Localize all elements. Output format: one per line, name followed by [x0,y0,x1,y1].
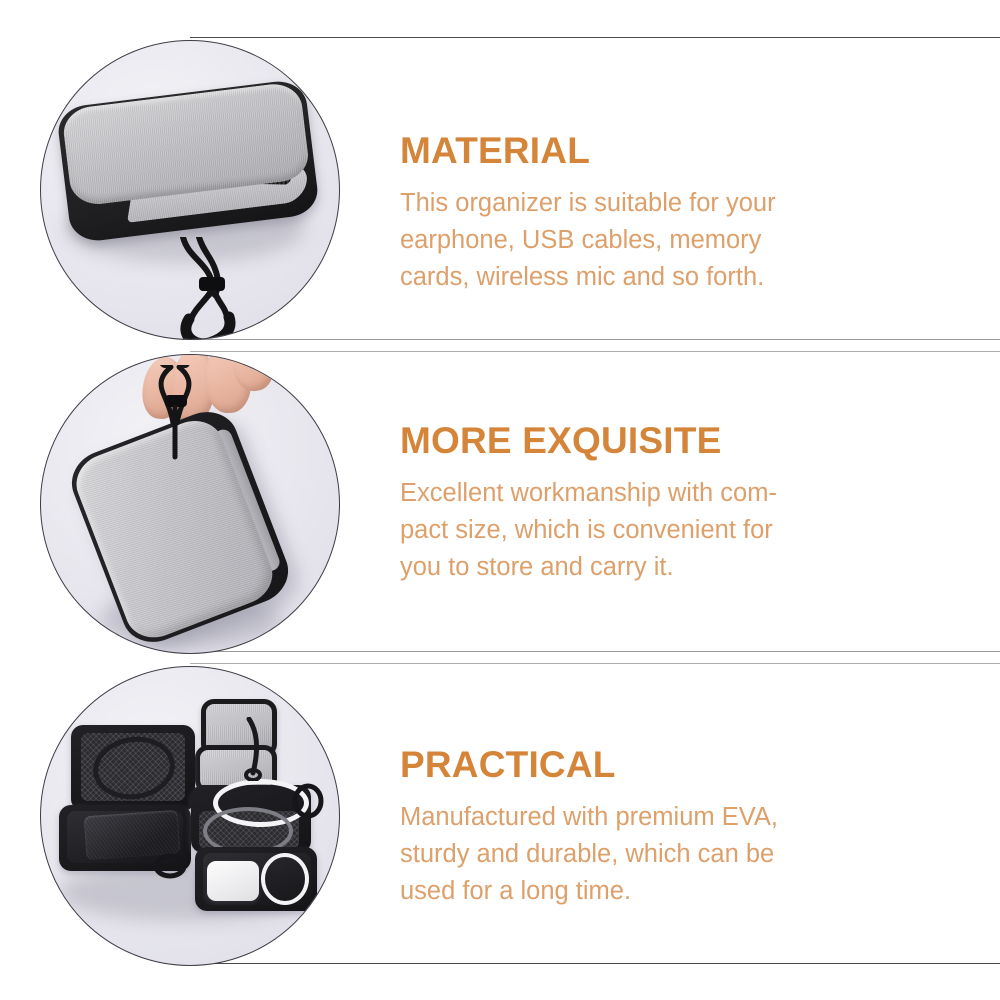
body-line: you to store and carry it. [400,553,674,581]
body-line: cards, wireless mic and so forth. [400,263,764,291]
section-body: Excellent workmanship with com- pact siz… [400,475,960,587]
product-photo-material [40,40,340,340]
product-photo-more-exquisite [40,354,340,654]
section-body: Manufactured with premium EVA, sturdy an… [400,799,960,911]
text-column-practical: PRACTICAL Manufactured with premium EVA,… [400,746,960,911]
body-line: earphone, USB cables, memory [400,226,761,254]
product-photo-practical [40,666,340,966]
lanyard-loop-icon [291,783,325,819]
lanyard-strap-icon [169,237,259,340]
section-heading: MATERIAL [400,132,960,171]
text-column-material: MATERIAL This organizer is suitable for … [400,132,960,297]
photo-scene-cases-with-accessories [41,667,339,965]
text-column-more-exquisite: MORE EXQUISITE Excellent workmanship wit… [400,422,960,587]
infographic-page: MATERIAL This organizer is suitable for … [0,0,1000,1000]
section-heading: MORE EXQUISITE [400,422,960,461]
body-line: sturdy and durable, which can be [400,840,774,868]
photo-scene-hand-holding-case [41,355,339,653]
body-line: Manufactured with premium EVA, [400,803,778,831]
section-body: This organizer is suitable for your earp… [400,185,960,297]
body-line: used for a long time. [400,877,631,905]
photo-scene-case-on-table [41,41,339,339]
earphones [261,853,309,905]
zipper-pull-icon [237,717,263,781]
body-line: Excellent workmanship with com- [400,479,777,507]
lanyard-loop-icon [153,853,187,879]
feature-section-practical: PRACTICAL Manufactured with premium EVA,… [0,664,1000,976]
feature-section-more-exquisite: MORE EXQUISITE Excellent workmanship wit… [0,352,1000,664]
body-line: This organizer is suitable for your [400,189,776,217]
section-heading: PRACTICAL [400,746,960,785]
feature-section-material: MATERIAL This organizer is suitable for … [0,38,1000,350]
charger-adapter [207,861,259,901]
lanyard-strap-icon [149,365,201,461]
body-line: pact size, which is convenient for [400,516,773,544]
